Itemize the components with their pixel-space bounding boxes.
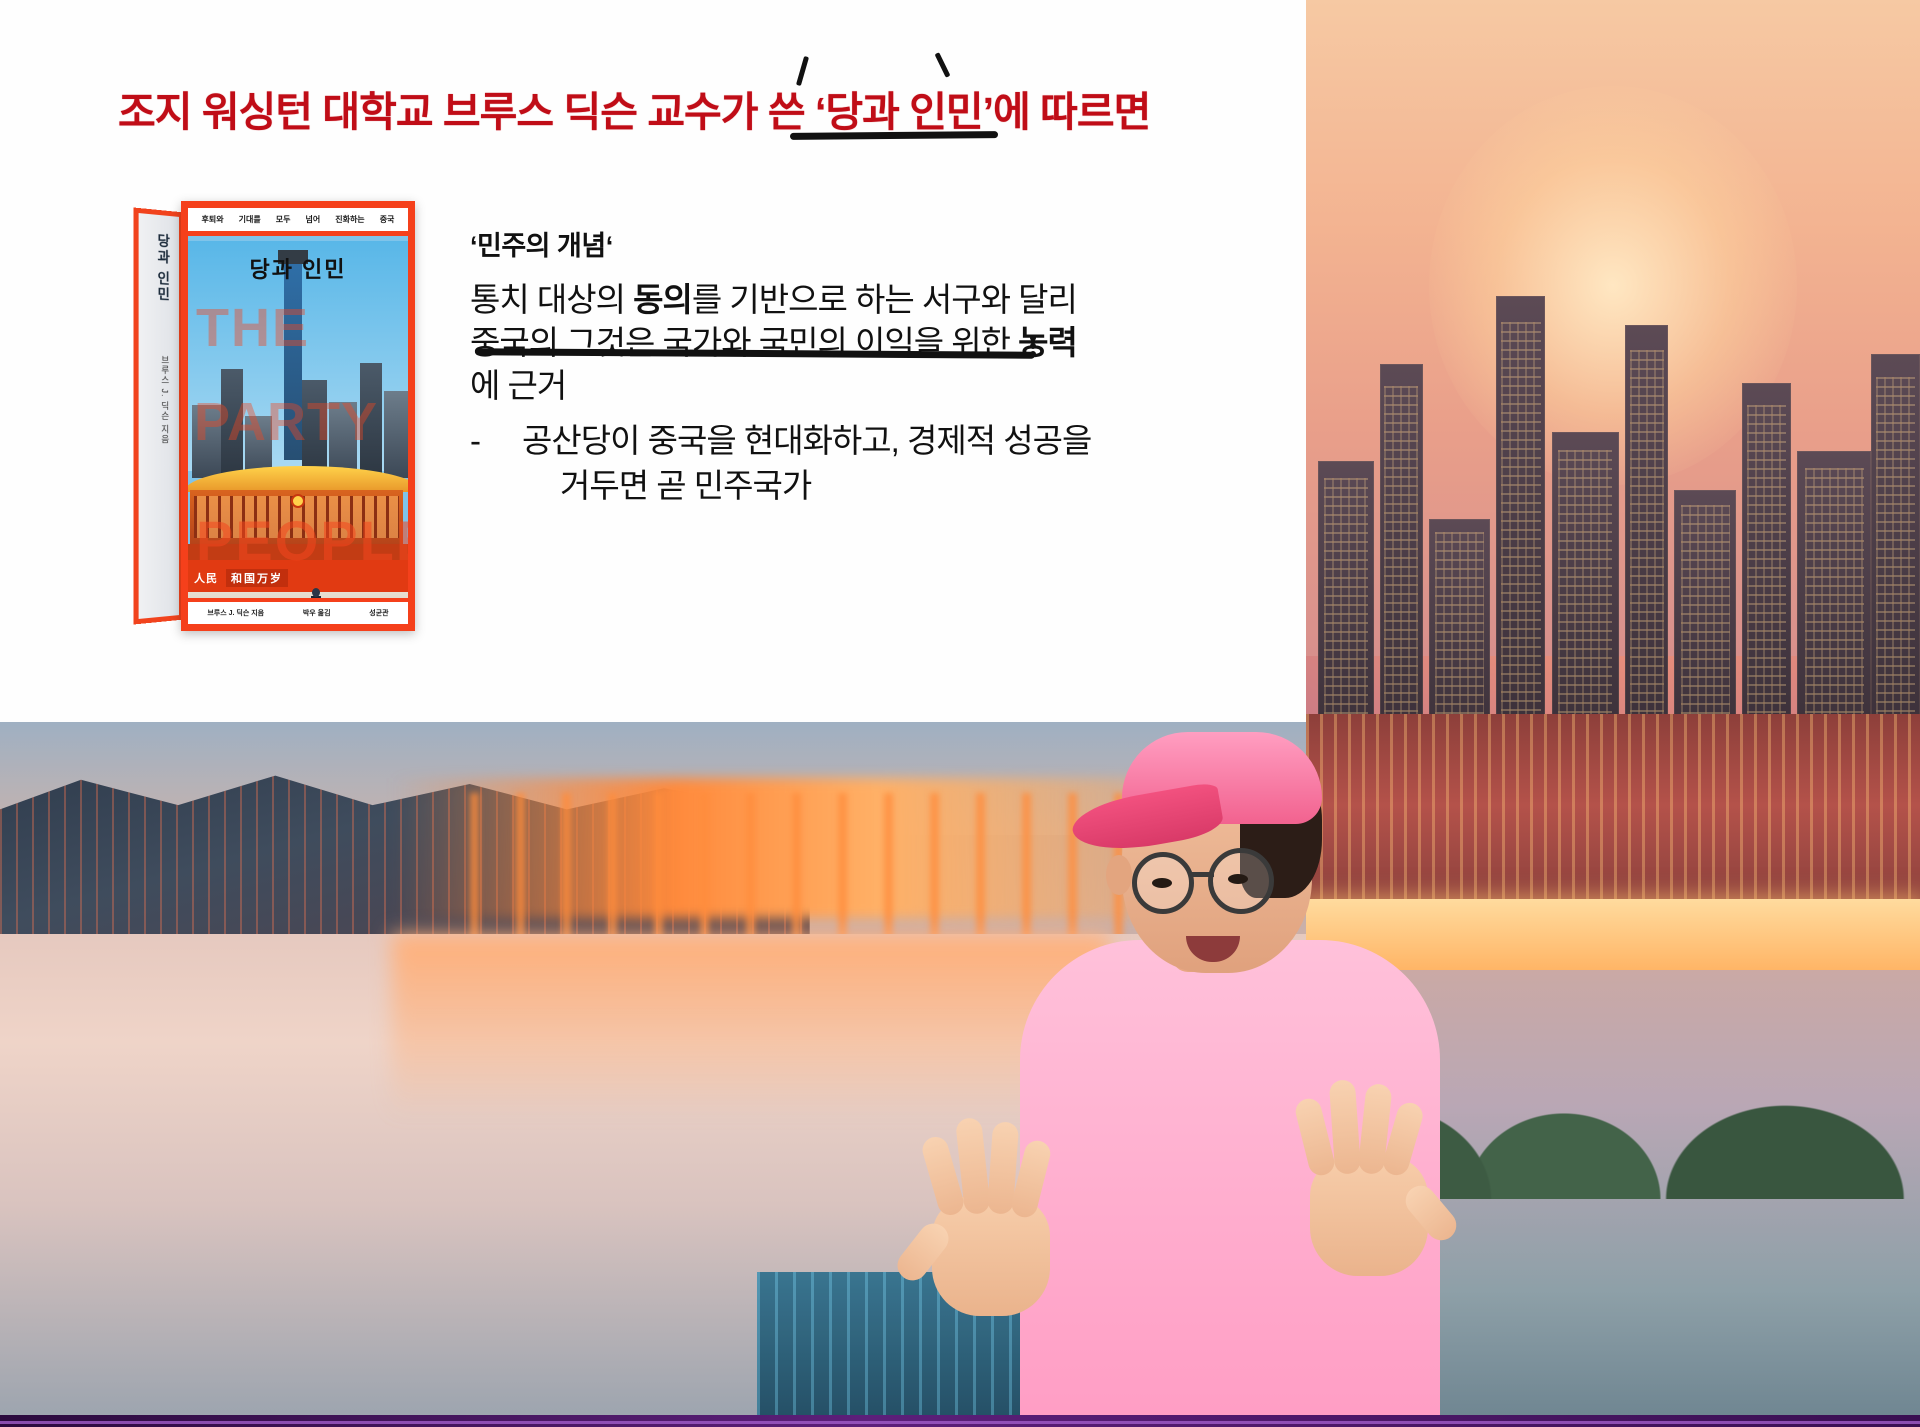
national-emblem-icon — [291, 494, 305, 508]
body-line-1-bold: 동의 — [633, 281, 692, 318]
video-frame: 조지 워싱턴 대학교 브루스 딕슨 교수가 쓴 ‘당과 인민’에 따르면 당과 … — [0, 0, 1920, 1427]
book-bottom-band-word: 박우 옮김 — [303, 608, 331, 618]
slide-title: 조지 워싱턴 대학교 브루스 딕슨 교수가 쓴 ‘당과 인민’에 따르면 — [118, 78, 1178, 138]
book-top-band-word: 모두 — [276, 214, 291, 225]
body-line-1: 통치 대상의 동의를 기반으로 하는 서구와 달리 — [470, 279, 1210, 322]
book-top-band-word: 넘어 — [305, 214, 320, 225]
bullet-item: - 공산당이 중국을 현대화하고, 경제적 성공을 — [470, 418, 1210, 464]
book-cover-ghost-text-2: PARTY — [194, 398, 414, 448]
body-line-1-pre: 통치 대상의 — [470, 281, 633, 318]
book-spine-author: 브루스 J. 딕슨 지음 — [154, 355, 171, 445]
handwritten-dot-marks-icon — [1026, 335, 1040, 357]
book-top-band-word: 기대를 — [239, 214, 261, 225]
book-front-cover: 후퇴와 기대를 모두 넘어 진화하는 중국 — [181, 201, 415, 631]
presenter-hand-right — [1290, 1070, 1440, 1270]
book-top-band-word: 진화하는 — [335, 214, 364, 225]
book-spine: 당과 인민 브루스 J. 딕슨 지음 — [134, 208, 184, 625]
body-line-2: 중국의 그것은 국가와 국민의 이익을 위한 능력 — [470, 322, 1210, 365]
book-cover-ghost-text-3: PEOPLE — [196, 508, 415, 573]
bullet-dash-icon: - — [470, 418, 484, 464]
book-top-band-word: 후퇴와 — [202, 214, 224, 225]
body-line-1-post: 를 기반으로 하는 서구와 달리 — [692, 281, 1077, 318]
presenter-overlay — [900, 640, 1430, 1427]
body-line-3: 에 근거 — [470, 365, 1210, 408]
presenter-glasses-bridge — [1192, 872, 1214, 877]
book-cover-image: 당과 인민 브루스 J. 딕슨 지음 후퇴와 기대를 모두 넘어 진화하는 중국 — [133, 201, 415, 631]
bottom-accent-highlight — [0, 1421, 1920, 1424]
book-cover-ghost-text-1: THE — [196, 304, 415, 354]
book-bottom-band: 브루스 J. 딕슨 지음 박우 옮김 성균관 — [188, 598, 408, 624]
presenter-eye-right — [1228, 874, 1248, 884]
book-bottom-band-word: 브루스 J. 딕슨 지음 — [207, 608, 264, 618]
bullet-line-1: 공산당이 중국을 현대화하고, 경제적 성공을 — [522, 418, 1091, 464]
handwritten-tick-mark-icon — [935, 52, 951, 78]
book-bottom-band-word: 성균관 — [369, 608, 388, 618]
presenter-eye-left — [1152, 878, 1172, 888]
bullet-line-2: 거두면 곧 민주국가 — [560, 463, 1210, 509]
slide-body: ‘민주의 개념‘ 통치 대상의 동의를 기반으로 하는 서구와 달리 중국의 그… — [470, 224, 1210, 509]
slide-subheading: ‘민주의 개념‘ — [470, 224, 1210, 263]
body-line-3-pre: 에 근거 — [470, 367, 566, 404]
presenter-cap — [1108, 732, 1338, 842]
presenter-ear — [1106, 855, 1132, 895]
book-cover-title: 당과 인민 — [188, 252, 408, 284]
book-top-band: 후퇴와 기대를 모두 넘어 진화하는 중국 — [188, 208, 408, 236]
presentation-slide: 조지 워싱턴 대학교 브루스 딕슨 교수가 쓴 ‘당과 인민’에 따르면 당과 … — [0, 0, 1306, 722]
handwritten-underline-title — [790, 131, 998, 140]
book-spine-title: 당과 인민 — [152, 232, 173, 303]
presenter-hand-left — [912, 1110, 1072, 1320]
book-top-band-word: 중국 — [380, 214, 395, 225]
